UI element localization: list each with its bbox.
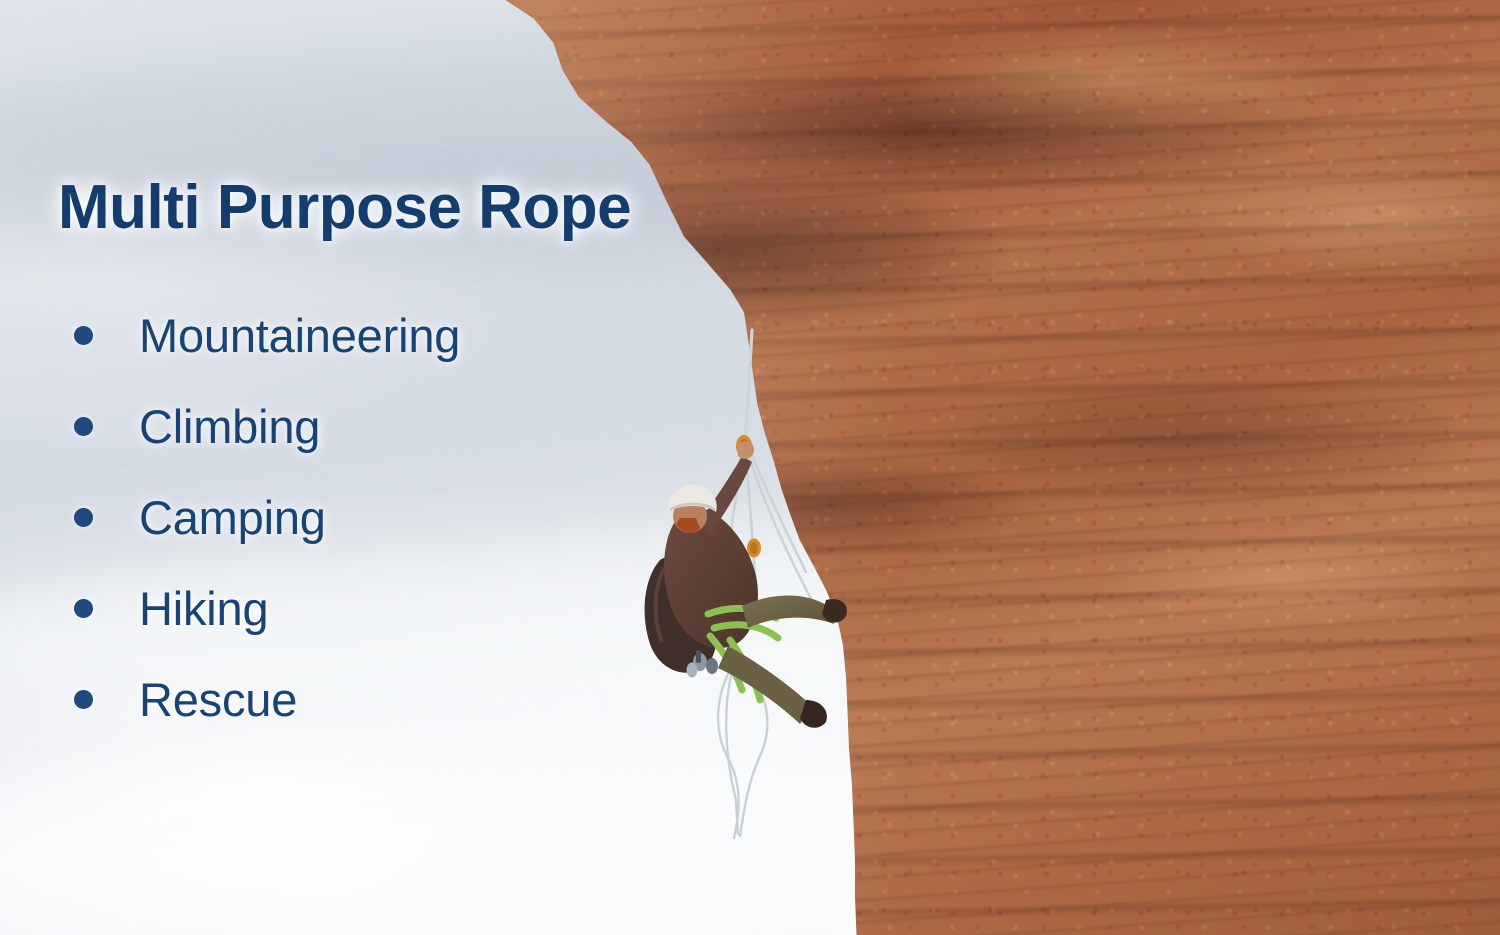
list-item: Hiking (58, 563, 678, 654)
bullet-dot-icon (74, 599, 93, 618)
list-item-label: Climbing (139, 399, 320, 454)
bullet-dot-icon (74, 690, 93, 709)
bullet-dot-icon (74, 326, 93, 345)
list-item-label: Mountaineering (139, 308, 460, 363)
bullet-dot-icon (74, 417, 93, 436)
list-item: Mountaineering (58, 290, 678, 381)
feature-list: Mountaineering Climbing Camping Hiking R… (58, 290, 678, 745)
list-item-label: Hiking (139, 581, 268, 636)
slide-canvas: Multi Purpose Rope Mountaineering Climbi… (0, 0, 1500, 935)
list-item-label: Camping (139, 490, 326, 545)
list-item: Camping (58, 472, 678, 563)
list-item: Climbing (58, 381, 678, 472)
list-item-label: Rescue (139, 672, 297, 727)
list-item: Rescue (58, 654, 678, 745)
page-title: Multi Purpose Rope (58, 172, 631, 243)
bullet-dot-icon (74, 508, 93, 527)
